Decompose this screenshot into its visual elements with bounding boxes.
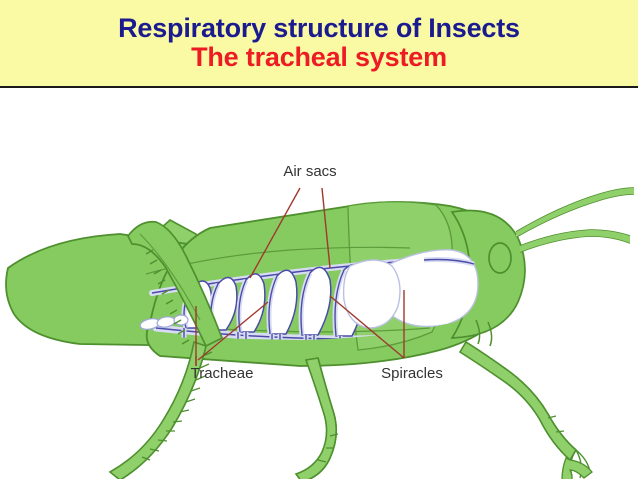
page-subtitle: The tracheal system	[191, 43, 447, 72]
label-spiracles: Spiracles	[381, 365, 443, 382]
middle-leg	[274, 358, 338, 479]
diagram-area: Air sacs Tracheae Spiracles	[0, 88, 638, 479]
label-tracheae: Tracheae	[191, 365, 254, 382]
title-banner: Respiratory structure of Insects The tra…	[0, 0, 638, 88]
page-title: Respiratory structure of Insects	[118, 14, 520, 43]
front-leg	[460, 342, 592, 479]
eye-icon	[489, 243, 511, 273]
grasshopper-diagram: Air sacs Tracheae Spiracles	[0, 88, 638, 479]
label-air-sacs: Air sacs	[283, 163, 336, 180]
air-sac-secondary	[344, 260, 400, 328]
antennae	[516, 188, 634, 252]
